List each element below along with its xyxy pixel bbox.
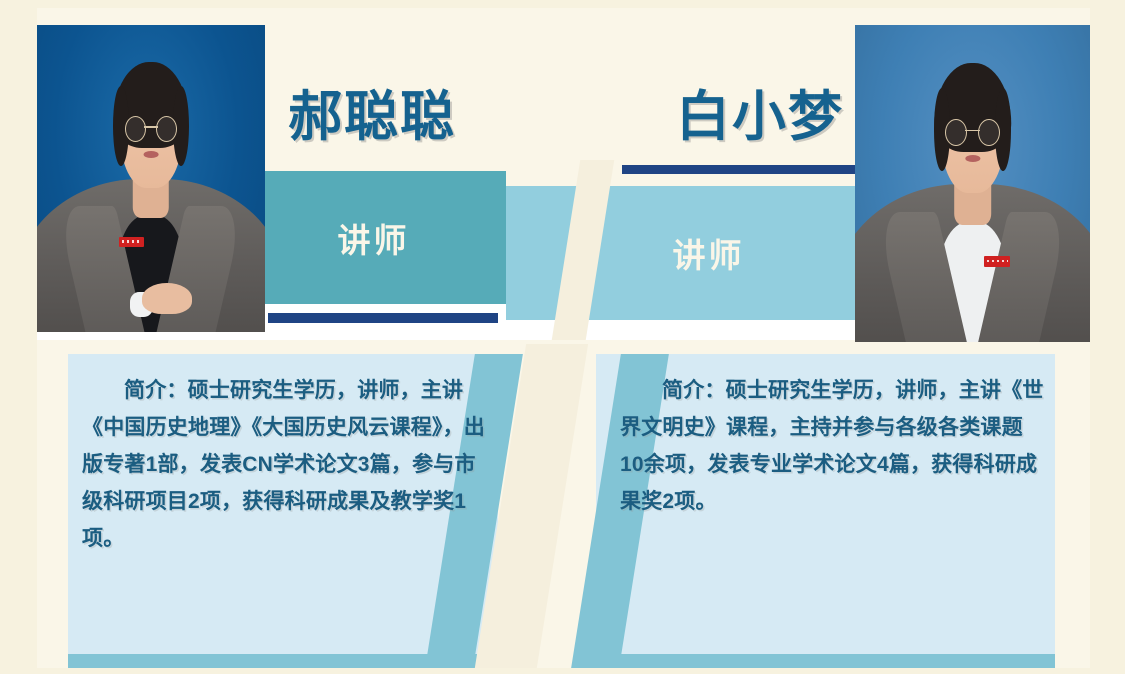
hands-shape [142,283,192,314]
portrait-figure-left [37,25,265,332]
frame-edge-right [1090,0,1125,674]
frame-edge-left [0,0,37,674]
glasses-lens-left [125,116,146,143]
name-badge-icon [984,256,1010,266]
bio-underline-left [68,654,498,668]
name-underline-rule-right [622,165,855,174]
portrait-photo-left [37,25,265,332]
bio-text-left: 简介：硕士研究生学历，讲师，主讲《中国历史地理》《大国历史风云课程》，出版专著1… [82,372,490,557]
mouth-shape [965,155,980,162]
frame-edge-bottom [0,668,1125,674]
frame-edge-top [0,0,1125,8]
portrait-photo-right [855,25,1090,342]
glasses-bridge [965,130,979,132]
glasses-lens-right [978,119,1000,146]
faculty-profile-slide: 郝聪聪 白小梦 讲师 讲师 简介：硕士研究生学历，讲师，主讲《中国历史地理》《大… [0,0,1125,674]
bio-text-right: 简介：硕士研究生学历，讲师，主讲《世界文明史》课程，主持并参与各级各类课题10余… [620,372,1044,520]
faculty-name-right: 白小梦 [676,72,844,151]
glasses-bridge [144,126,158,128]
portrait-figure-right [855,25,1090,342]
mouth-shape [144,151,159,158]
name-badge-icon [119,237,144,247]
faculty-title-right: 讲师 [673,229,745,277]
faculty-name-left: 郝聪聪 [288,72,456,151]
title-banner-left: 讲师 [265,171,506,304]
banner-underline-rule-left [268,313,498,323]
bio-underline-right [596,654,1055,668]
faculty-title-left: 讲师 [338,214,410,262]
